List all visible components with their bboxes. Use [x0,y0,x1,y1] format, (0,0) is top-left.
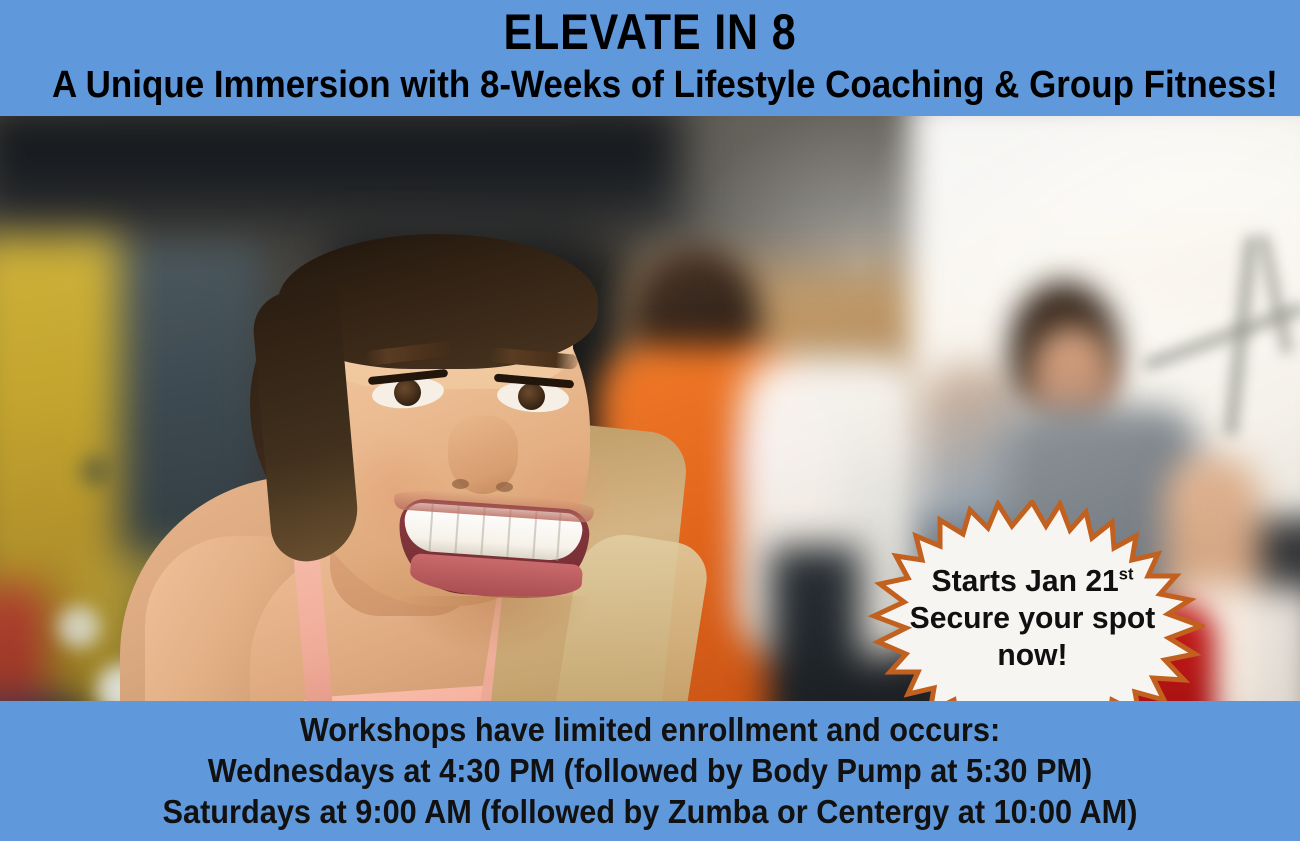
badge-line-1: Starts Jan 21st [865,562,1200,599]
page-subtitle: A Unique Immersion with 8-Weeks of Lifes… [52,63,1248,107]
woman-iris [518,383,545,410]
footer-details: Workshops have limited enrollment and oc… [46,709,1255,832]
footer-line-1: Workshops have limited enrollment and oc… [46,709,1255,750]
woman-chin-shadow [400,596,590,656]
badge-ordinal-suffix: st [1119,565,1134,584]
starburst-badge: Starts Jan 21st Secure your spot now! [860,500,1205,701]
page-title: ELEVATE IN 8 [91,4,1209,60]
badge-line-2: Secure your spot [865,599,1200,636]
woman-iris [394,379,421,406]
background-person-shadow [770,546,860,701]
flyer-canvas: Starts Jan 21st Secure your spot now! EL… [0,0,1300,841]
hero-photo: Starts Jan 21st Secure your spot now! [0,116,1300,701]
foreground-woman [0,116,700,701]
footer-line-2: Wednesdays at 4:30 PM (followed by Body … [46,750,1255,791]
badge-line-3: now! [865,636,1200,673]
footer-line-3: Saturdays at 9:00 AM (followed by Zumba … [46,791,1255,832]
header-band: ELEVATE IN 8 A Unique Immersion with 8-W… [0,0,1300,116]
badge-date: Starts Jan 21 [932,563,1119,598]
footer-band: Workshops have limited enrollment and oc… [0,701,1300,841]
badge-text: Starts Jan 21st Secure your spot now! [865,562,1200,673]
woman-nostril [496,482,513,492]
woman-nostril [452,479,469,489]
